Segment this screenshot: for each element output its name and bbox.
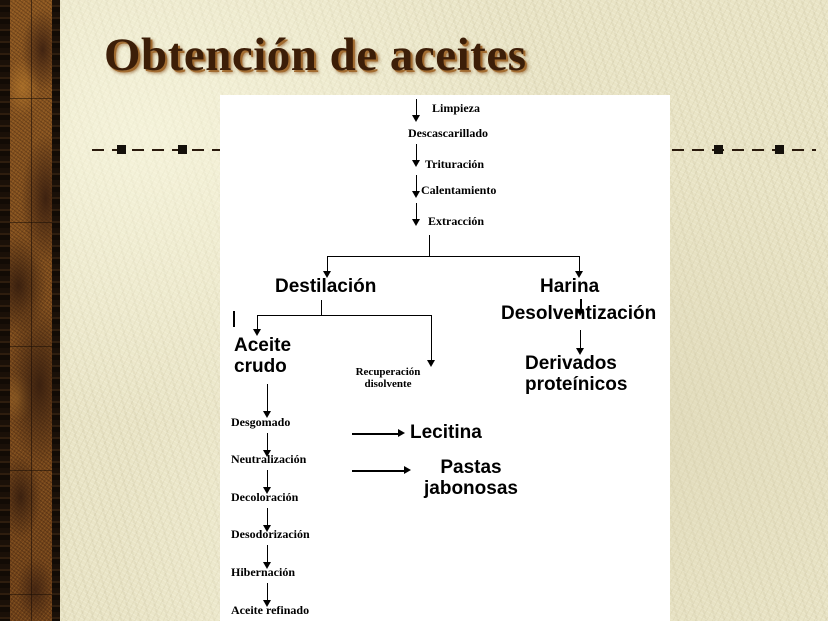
node-calentamiento: Calentamiento <box>421 183 496 198</box>
presentation-slide: Obtención de aceites Limpieza Descascari… <box>0 0 828 621</box>
node-derivados-proteinicos: Derivadosproteínicos <box>525 353 645 396</box>
connector-line <box>352 470 406 472</box>
node-derivados-line2: proteínicos <box>525 374 627 395</box>
node-desodorizacion: Desodorización <box>231 527 310 542</box>
selection-handle[interactable] <box>775 145 784 154</box>
node-decoloracion: Decoloración <box>231 490 298 505</box>
pastas-line2: jabonosas <box>424 478 518 499</box>
node-descascarillado: Descascarillado <box>408 126 488 141</box>
node-lecitina: Lecitina <box>410 422 482 444</box>
connector-line <box>431 315 432 363</box>
node-harina: Harina <box>540 276 599 298</box>
border-grid-line-horizontal <box>10 470 52 471</box>
border-grid-line-horizontal <box>10 346 52 347</box>
node-aceite-line2: crudo <box>234 356 287 377</box>
connector-line <box>352 433 400 435</box>
node-pastas-jabonosas: Pastasjabonosas <box>406 457 536 500</box>
guide-line-left[interactable] <box>92 149 220 151</box>
connector-line <box>321 300 322 316</box>
node-aceite-refinado: Aceite refinado <box>231 603 309 618</box>
node-trituracion: Trituración <box>425 157 484 172</box>
recuperacion-label: Recuperación <box>356 366 421 378</box>
node-desolventizacion: Desolventización <box>501 303 656 325</box>
guide-line-right[interactable] <box>672 149 816 151</box>
node-hibernacion: Hibernación <box>231 565 295 580</box>
arrow-down-icon <box>412 219 420 226</box>
selection-handle[interactable] <box>117 145 126 154</box>
node-aceite-crudo: Aceitecrudo <box>234 335 334 378</box>
arrow-down-icon <box>412 191 420 198</box>
connector-line <box>267 384 268 413</box>
left-border-decoration <box>0 0 60 621</box>
node-aceite-line1: Aceite <box>234 335 291 356</box>
selection-handle[interactable] <box>178 145 187 154</box>
node-limpieza: Limpieza <box>432 101 480 116</box>
arrow-down-icon <box>412 115 420 122</box>
border-edge-left <box>0 0 10 621</box>
node-desgomado: Desgomado <box>231 415 290 430</box>
slide-title: Obtención de aceites <box>104 32 527 79</box>
disolvente-link[interactable]: disolvente <box>364 378 411 390</box>
node-derivados-line1: Derivados <box>525 353 617 374</box>
border-grid-line-vertical <box>31 0 32 621</box>
pastas-line1: Pastas <box>440 457 501 478</box>
node-neutralizacion: Neutralización <box>231 452 306 467</box>
arrow-right-icon <box>398 429 405 437</box>
node-extraccion: Extracción <box>428 214 484 229</box>
connector-line <box>429 235 430 257</box>
node-recuperacion-disolvente: Recuperacióndisolvente <box>338 366 438 390</box>
connector-line <box>327 256 580 257</box>
border-grid-line-horizontal <box>10 594 52 595</box>
node-destilacion: Destilación <box>275 276 376 298</box>
border-grid-line-horizontal <box>10 222 52 223</box>
connector-line <box>257 315 432 316</box>
selection-handle[interactable] <box>714 145 723 154</box>
flowchart-panel: Limpieza Descascarillado Trituración Cal… <box>220 95 670 621</box>
border-edge-right <box>52 0 60 621</box>
arrow-down-icon <box>412 160 420 167</box>
text-cursor-caret <box>233 311 235 327</box>
border-grid-line-horizontal <box>10 98 52 99</box>
